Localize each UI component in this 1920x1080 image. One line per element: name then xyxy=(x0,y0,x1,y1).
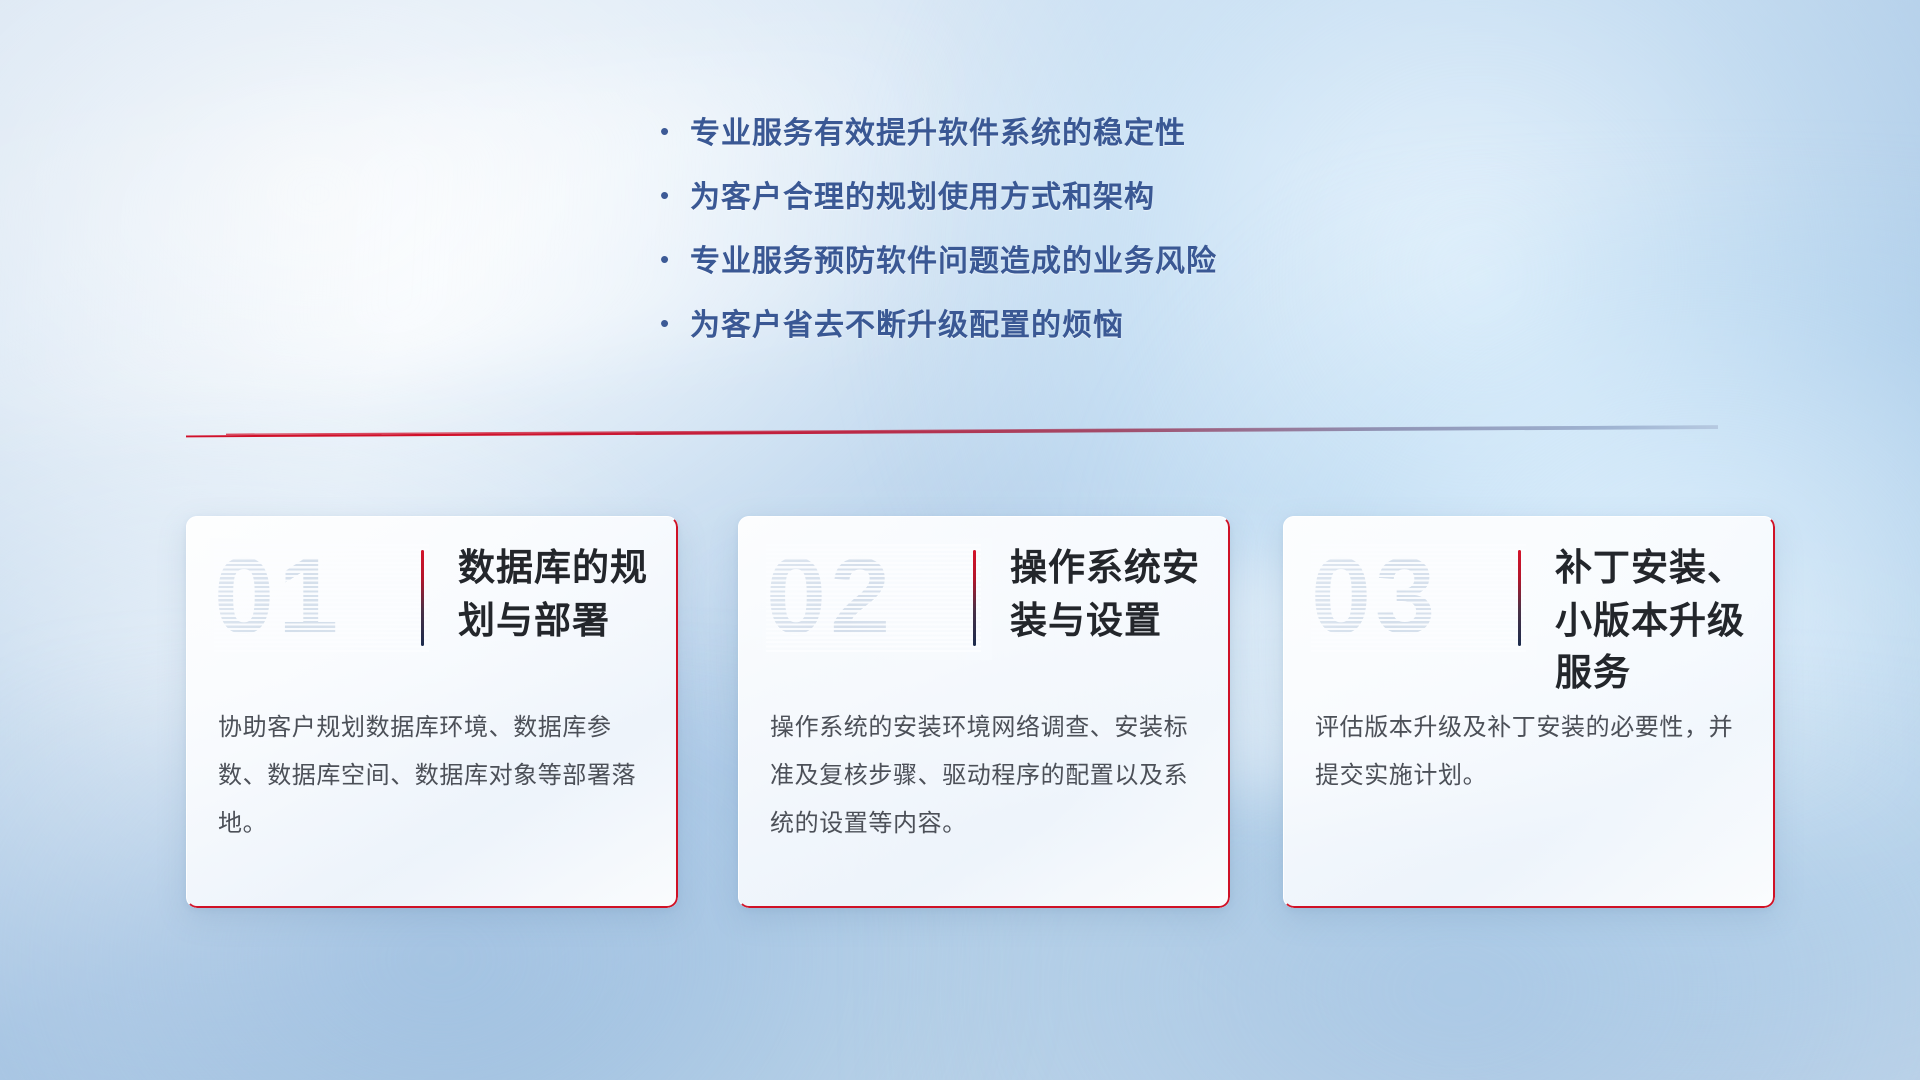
section-divider xyxy=(186,424,1718,442)
service-card[interactable]: 01 数据库的规划与部署 协助客户规划数据库环境、数据库参数、数据库空间、数据库… xyxy=(186,516,678,908)
benefits-bullet-list: • 专业服务有效提升软件系统的稳定性 • 为客户合理的规划使用方式和架构 • 专… xyxy=(660,108,1460,364)
list-item: • 为客户合理的规划使用方式和架构 xyxy=(660,172,1460,236)
service-card[interactable]: 03 补丁安装、小版本升级服务 评估版本升级及补丁安装的必要性，并提交实施计划。 xyxy=(1283,516,1775,908)
bullet-text: 为客户合理的规划使用方式和架构 xyxy=(690,172,1155,216)
list-item: • 专业服务预防软件问题造成的业务风险 xyxy=(660,236,1460,300)
card-title: 补丁安装、小版本升级服务 xyxy=(1555,542,1753,700)
card-description: 操作系统的安装环境网络调查、安装标准及复核步骤、驱动程序的配置以及系统的设置等内… xyxy=(770,704,1204,848)
service-card[interactable]: 02 操作系统安装与设置 操作系统的安装环境网络调查、安装标准及复核步骤、驱动程… xyxy=(738,516,1230,908)
bullet-text: 专业服务预防软件问题造成的业务风险 xyxy=(690,236,1217,280)
bullet-text: 专业服务有效提升软件系统的稳定性 xyxy=(690,108,1186,152)
divider-wedge-icon xyxy=(186,424,1718,442)
service-card-row: 01 数据库的规划与部署 协助客户规划数据库环境、数据库参数、数据库空间、数据库… xyxy=(0,516,1920,926)
card-header: 03 补丁安装、小版本升级服务 xyxy=(1283,516,1775,680)
bullet-text: 为客户省去不断升级配置的烦恼 xyxy=(690,300,1124,344)
bullet-dot-icon: • xyxy=(660,182,690,208)
card-number: 02 xyxy=(766,542,894,650)
card-title: 数据库的规划与部署 xyxy=(458,542,656,647)
card-number: 03 xyxy=(1311,542,1439,650)
card-title: 操作系统安装与设置 xyxy=(1010,542,1208,647)
card-title-divider xyxy=(421,550,424,646)
bullet-dot-icon: • xyxy=(660,246,690,272)
card-title-divider xyxy=(1518,550,1521,646)
bullet-dot-icon: • xyxy=(660,118,690,144)
card-header: 02 操作系统安装与设置 xyxy=(738,516,1230,680)
card-header: 01 数据库的规划与部署 xyxy=(186,516,678,680)
bullet-dot-icon: • xyxy=(660,310,690,336)
card-description: 评估版本升级及补丁安装的必要性，并提交实施计划。 xyxy=(1315,704,1749,800)
card-description: 协助客户规划数据库环境、数据库参数、数据库空间、数据库对象等部署落地。 xyxy=(218,704,652,848)
card-number: 01 xyxy=(214,542,342,650)
card-title-divider xyxy=(973,550,976,646)
list-item: • 为客户省去不断升级配置的烦恼 xyxy=(660,300,1460,364)
list-item: • 专业服务有效提升软件系统的稳定性 xyxy=(660,108,1460,172)
